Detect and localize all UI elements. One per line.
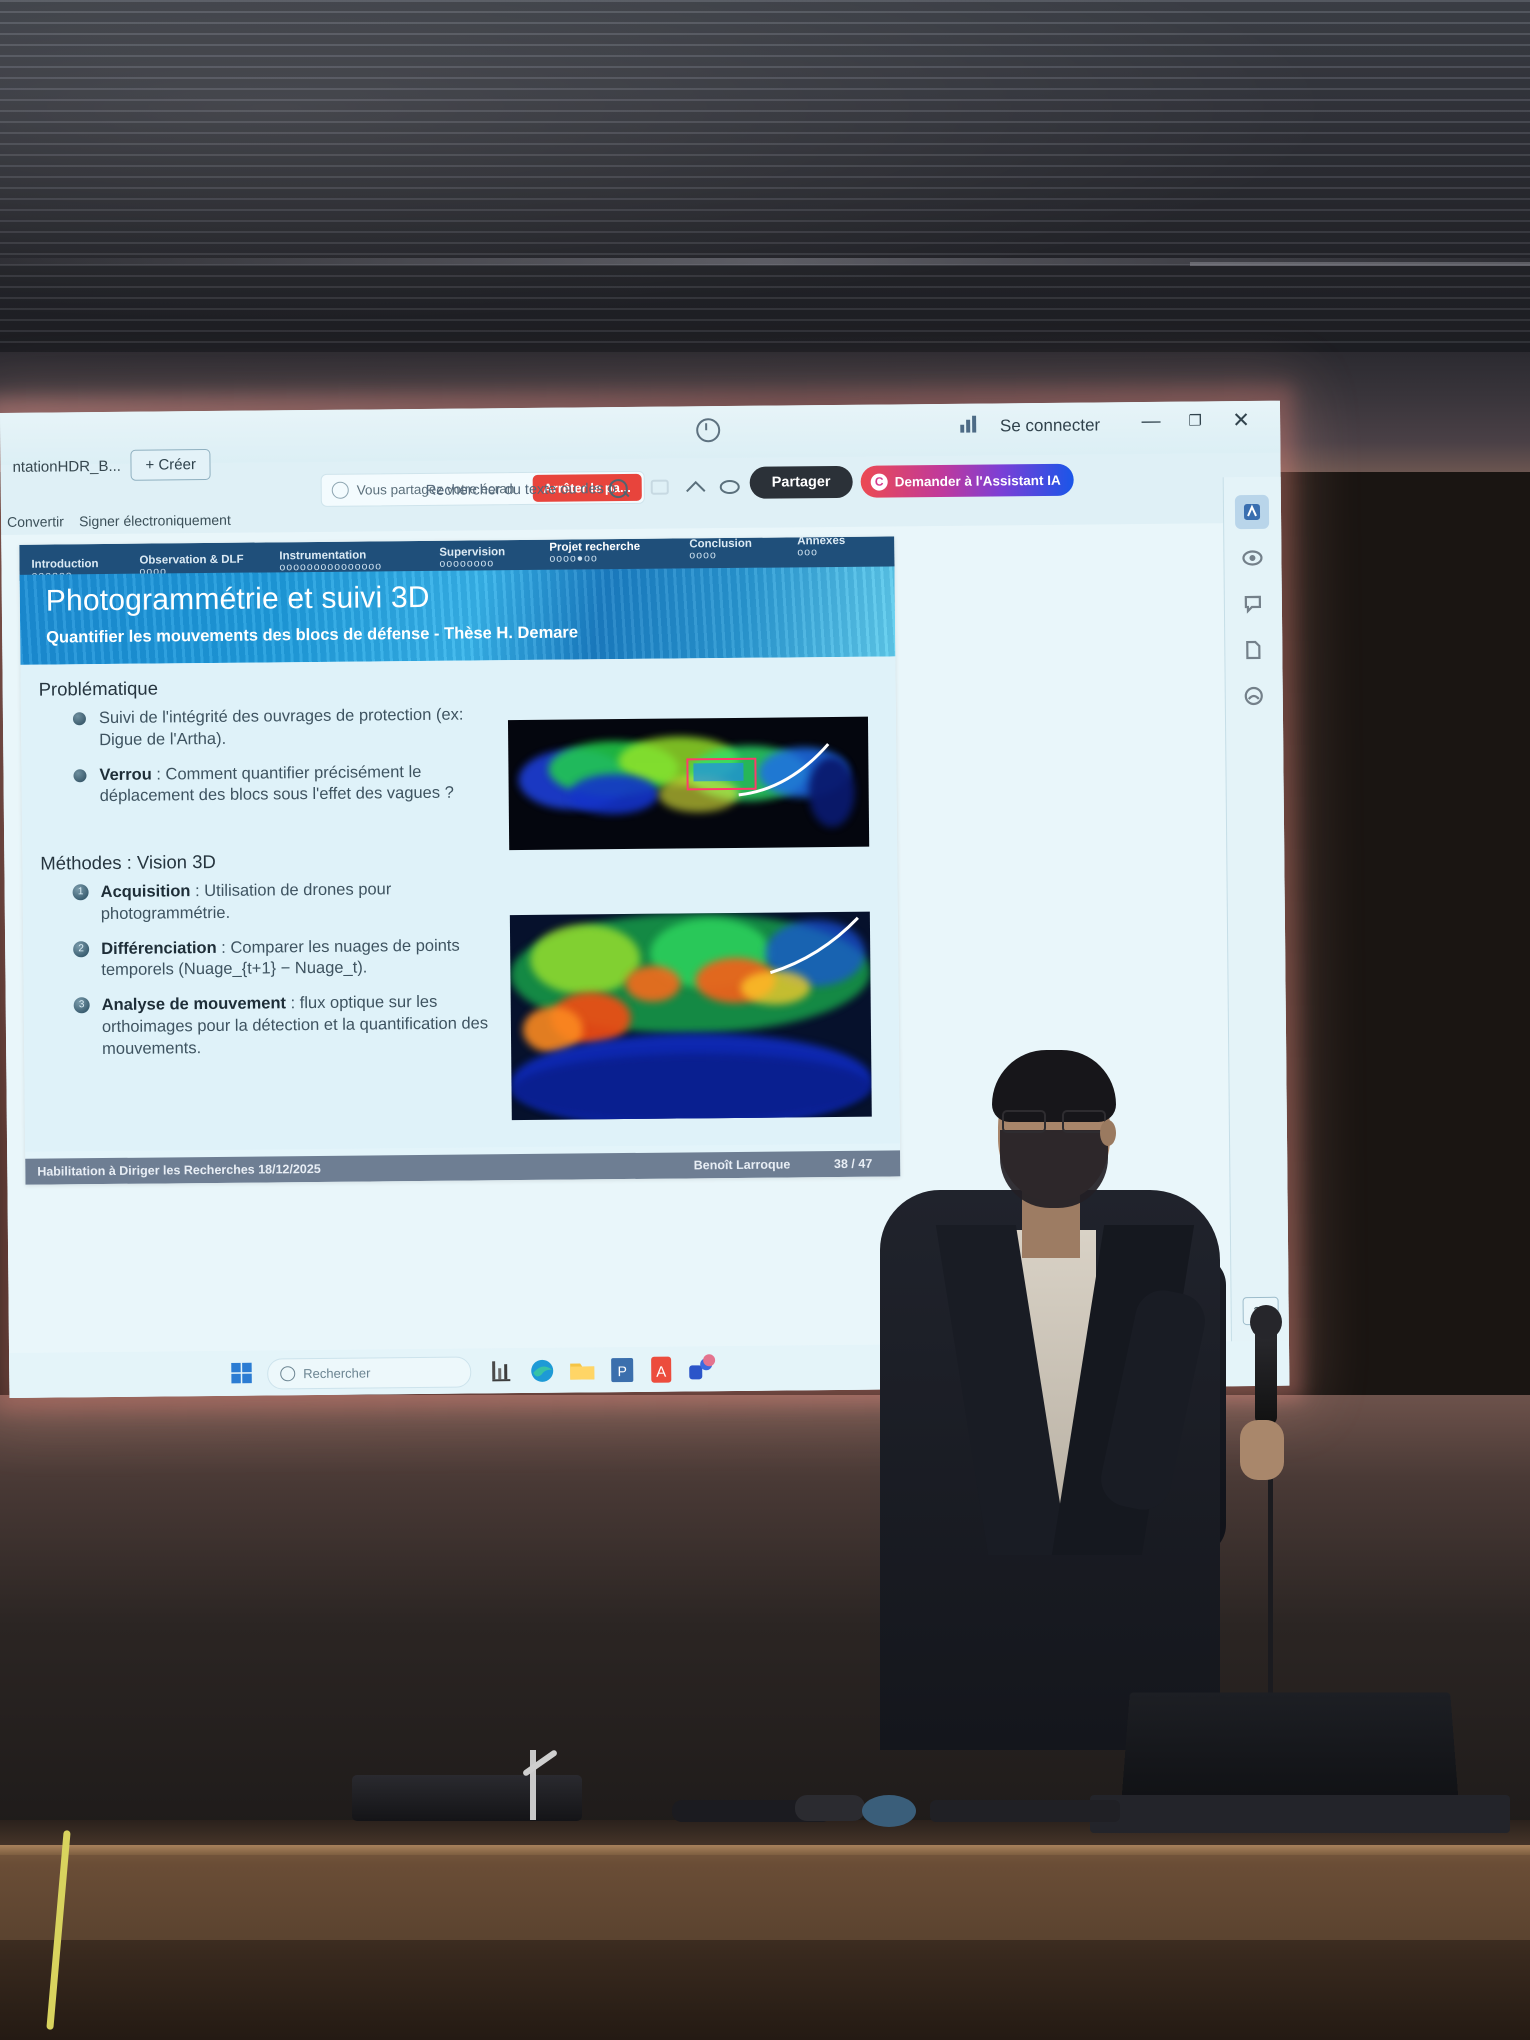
pages-icon[interactable] (1236, 633, 1270, 667)
acrobat-reader-icon[interactable]: A (646, 1355, 676, 1385)
nav-dots: oooo●oo (549, 553, 640, 565)
bullet-keyword: Analyse de mouvement (102, 994, 286, 1014)
sign-icon[interactable] (1237, 679, 1271, 713)
nav-section-projet-recherche[interactable]: Projet recherche oooo●oo (549, 541, 640, 565)
desk-keyboard (930, 1800, 1120, 1822)
laptop-base (1090, 1795, 1510, 1833)
search-icon[interactable] (609, 479, 628, 498)
presenter-glasses (1002, 1110, 1106, 1130)
slide-footer: Habilitation à Diriger les Recherches 18… (25, 1150, 900, 1184)
list-item: 1 Acquisition : Utilisation de drones po… (73, 878, 493, 926)
svg-text:P: P (617, 1363, 626, 1379)
slide-title: Photogrammétrie et suivi 3D (46, 581, 430, 619)
nav-section-supervision[interactable]: Supervision oooooooo (439, 546, 505, 570)
search-input[interactable]: Rechercher du texte ou des o (426, 481, 616, 499)
esign-link[interactable]: Signer électroniquement (79, 512, 231, 529)
nav-section-instrumentation[interactable]: Instrumentation ooooooooooooooo (279, 549, 382, 573)
zoom-out-icon[interactable] (685, 477, 707, 497)
edge-browser-icon[interactable] (527, 1356, 557, 1386)
bullet-number-3-icon: 3 (74, 997, 90, 1013)
photo-of-projected-presentation: Se connecter — ❐ ✕ ntationHDR_B... × + C… (0, 0, 1530, 2040)
handheld-microphone (1255, 1325, 1277, 1425)
bullet-keyword: Acquisition (101, 882, 191, 901)
search-icon (280, 1366, 295, 1381)
taskbar-search-box[interactable]: Rechercher (267, 1357, 471, 1390)
file-explorer-icon[interactable] (567, 1355, 597, 1385)
slide-body: Problématique Suivi de l'intégrité des o… (20, 656, 900, 1151)
fit-page-icon[interactable] (719, 477, 741, 497)
bullet-keyword: Verrou (99, 765, 151, 784)
bullet-text: : Comment quantifier précisément le dépl… (100, 763, 454, 806)
convert-link[interactable]: Convertir (7, 513, 64, 530)
sign-in-button[interactable]: Se connecter (1000, 415, 1100, 436)
desk-remote (795, 1795, 865, 1821)
nav-dots: ooo (797, 547, 845, 558)
desk-equipment-box (352, 1775, 582, 1821)
comment-icon[interactable] (1236, 587, 1270, 621)
presenter-hand (1240, 1420, 1284, 1480)
list-item: 2 Différenciation : Comparer les nuages … (73, 935, 493, 983)
footer-author: Benoît Larroque (694, 1157, 791, 1172)
presenter-ear (1100, 1120, 1116, 1146)
ai-assistant-button[interactable]: C Demander à l'Assistant IA (861, 464, 1074, 498)
section-heading-problematique: Problématique (39, 677, 159, 700)
tab-label: ntationHDR_B... (12, 457, 121, 475)
share-button[interactable]: Partager (750, 466, 853, 499)
nav-dots: oooooooo (439, 558, 505, 570)
minimize-button[interactable]: — (1138, 412, 1164, 432)
ai-assistant-icon[interactable] (1235, 495, 1269, 529)
desk-edge (0, 1845, 1530, 1855)
chart-icon[interactable] (960, 416, 978, 433)
ceiling-slats (0, 0, 1530, 360)
powerpoint-icon[interactable]: P (607, 1355, 637, 1385)
desk-front-panel (0, 1940, 1530, 2040)
list-item: Verrou : Comment quantifier précisément … (71, 761, 491, 809)
desk-stand-pole (530, 1750, 536, 1820)
presentation-slide: Introduction oooooo Observation & DLF oo… (19, 536, 900, 1184)
microphone-stand (1268, 1435, 1273, 1735)
teams-icon[interactable] (685, 1352, 719, 1386)
section-heading-methodes: Méthodes : Vision 3D (40, 851, 216, 875)
microphone-head (1250, 1305, 1282, 1339)
bullet-list-methodes: 1 Acquisition : Utilisation de drones po… (73, 878, 495, 1073)
list-item: 3 Analyse de mouvement : flux optique su… (74, 991, 495, 1060)
bullet-number-1-icon: 1 (73, 884, 89, 900)
view-icon[interactable] (1235, 541, 1269, 575)
chart-app-icon[interactable] (487, 1356, 517, 1386)
right-tool-rail: 38 76 ⌃ ⌄ (1223, 477, 1290, 1387)
bullet-list-problematique: Suivi de l'intégrité des ouvrages de pro… (71, 704, 492, 821)
footer-page-number: 38 / 47 (834, 1157, 872, 1171)
nav-section-annexes[interactable]: Annexes ooo (797, 536, 845, 558)
maximize-button[interactable]: ❐ (1182, 411, 1208, 431)
desk-mouse (862, 1795, 916, 1827)
bullet-keyword: Différenciation (101, 938, 217, 957)
ai-badge-icon: C (871, 473, 888, 490)
ai-assistant-label: Demander à l'Assistant IA (895, 472, 1061, 489)
bullet-number-2-icon: 2 (73, 941, 89, 957)
windows-start-icon[interactable] (231, 1363, 252, 1384)
bullet-text: Suivi de l'intégrité des ouvrages de pro… (99, 706, 464, 749)
nav-section-conclusion[interactable]: Conclusion oooo (689, 538, 752, 562)
footer-event-title: Habilitation à Diriger les Recherches 18… (37, 1162, 321, 1179)
close-button[interactable]: ✕ (1228, 411, 1254, 431)
figure-orthoimage-optical-flow-map (510, 912, 872, 1120)
bullet-dot-icon (73, 769, 86, 782)
highlight-icon[interactable] (649, 478, 671, 498)
ceiling-beam-secondary (1190, 262, 1530, 266)
figure-point-cloud-difference-map (508, 717, 869, 850)
svg-text:A: A (656, 1364, 666, 1381)
nav-dots: oooo (689, 550, 752, 562)
bullet-dot-icon (73, 712, 86, 725)
list-item: Suivi de l'intégrité des ouvrages de pro… (71, 704, 491, 752)
taskbar-search-placeholder: Rechercher (303, 1365, 370, 1381)
